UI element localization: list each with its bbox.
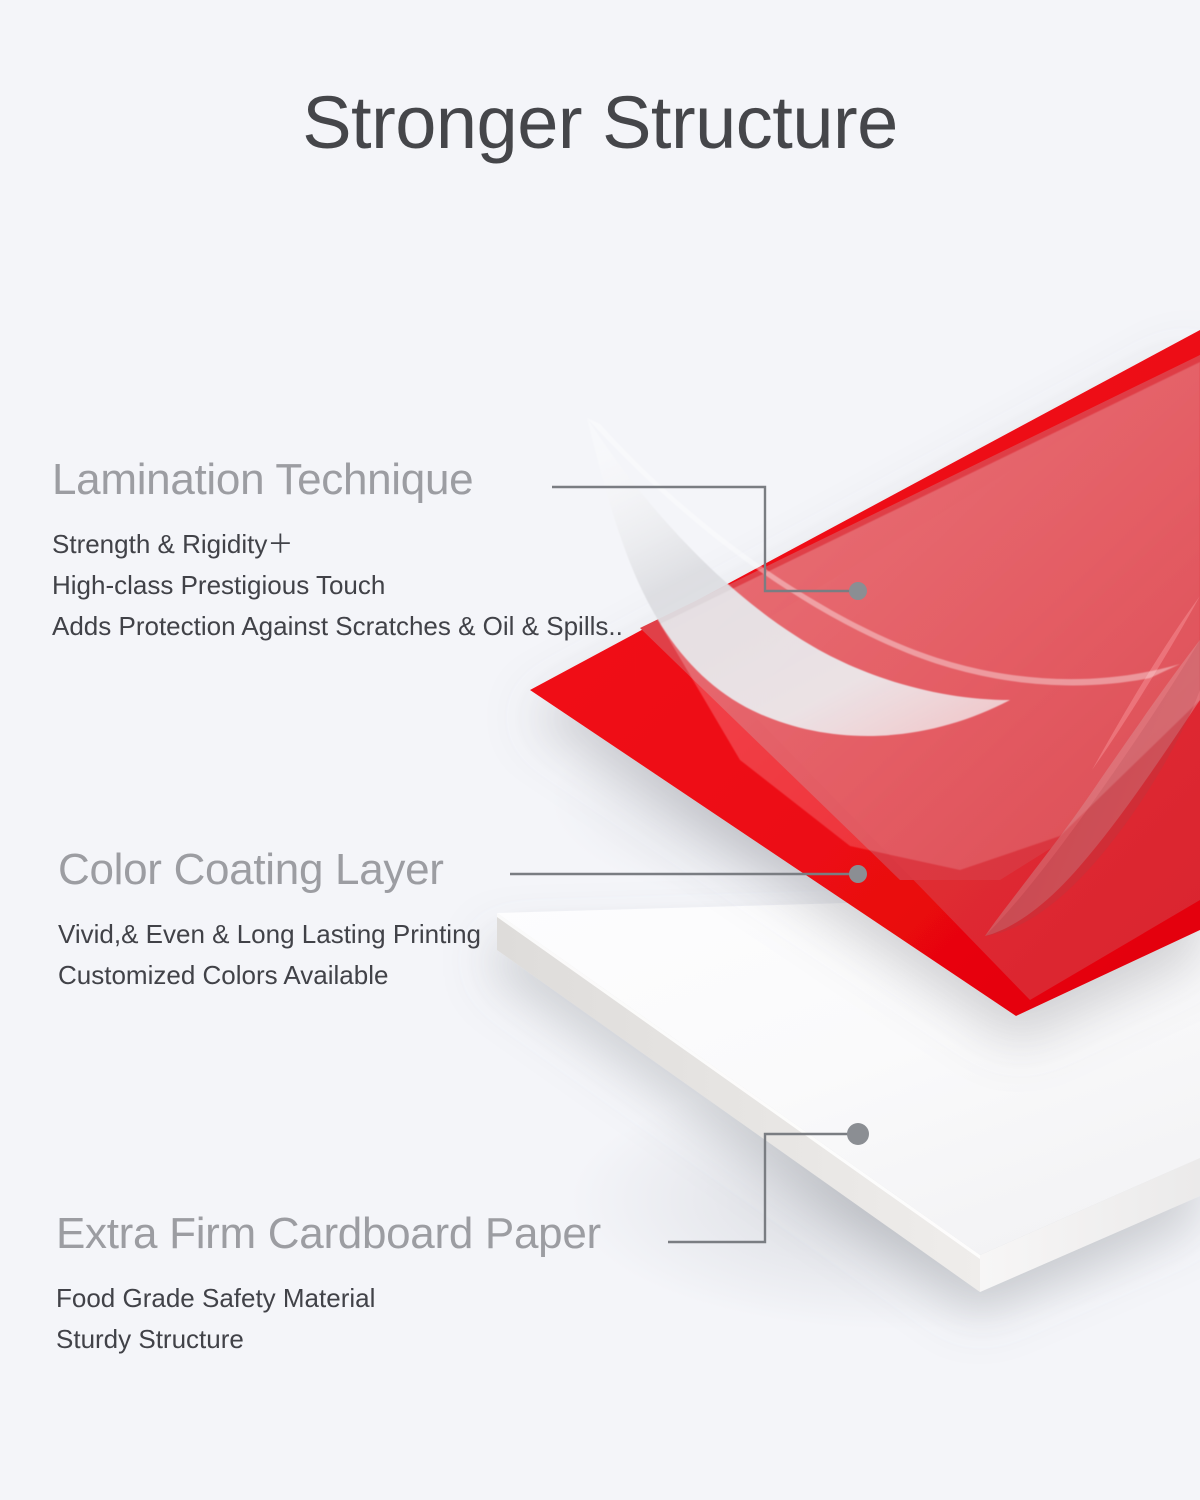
lamination-film-edge <box>587 418 1180 685</box>
callout-line: Food Grade Safety Material <box>56 1278 601 1319</box>
callout-lamination-lines: Strength & Rigidity＋ High-class Prestigi… <box>52 524 623 647</box>
leader-line-cardboard <box>668 1134 852 1242</box>
cardboard-slab <box>497 893 1200 1292</box>
page-title: Stronger Structure <box>0 86 1200 160</box>
callout-color-coating-heading: Color Coating Layer <box>58 848 481 892</box>
callout-line: Sturdy Structure <box>56 1319 601 1360</box>
callout-cardboard: Extra Firm Cardboard Paper Food Grade Sa… <box>56 1212 601 1360</box>
leader-dot-cardboard <box>847 1123 869 1145</box>
laminated-red-face <box>640 355 1200 880</box>
infographic-page: Stronger Structure Lamination Technique … <box>0 0 1200 1500</box>
callout-line: Strength & Rigidity＋ <box>52 524 623 565</box>
lamination-film <box>587 362 1200 870</box>
red-curl-inner-shade <box>985 640 1200 936</box>
callout-lamination: Lamination Technique Strength & Rigidity… <box>52 458 623 647</box>
callout-line: High-class Prestigious Touch <box>52 565 623 606</box>
laminated-red-sheet <box>640 355 1200 1000</box>
color-coating-sheet <box>530 330 1200 1016</box>
cardboard-edge-right <box>980 1158 1200 1292</box>
callout-cardboard-lines: Food Grade Safety Material Sturdy Struct… <box>56 1278 601 1360</box>
laminated-red-body <box>700 355 1200 1000</box>
callout-line: Customized Colors Available <box>58 955 481 996</box>
red-curl <box>985 640 1200 936</box>
leader-dot-coating <box>849 865 867 883</box>
red-curl-highlight <box>1092 596 1200 770</box>
callout-line: Vivid,& Even & Long Lasting Printing <box>58 914 481 955</box>
lamination-film-sheet <box>587 418 1010 736</box>
leader-dot-lamination <box>849 582 867 600</box>
lamination-film-over-red <box>660 362 1200 870</box>
ambient-shadow-red <box>550 680 1200 920</box>
callout-color-coating: Color Coating Layer Vivid,& Even & Long … <box>58 848 481 996</box>
callout-lamination-heading: Lamination Technique <box>52 458 623 502</box>
callout-color-coating-lines: Vivid,& Even & Long Lasting Printing Cus… <box>58 914 481 996</box>
cardboard-top-highlight <box>497 913 980 1259</box>
color-coating-base <box>530 330 1200 1016</box>
callout-line: Adds Protection Against Scratches & Oil … <box>52 606 623 647</box>
cardboard-top-face <box>497 893 1200 1255</box>
callout-cardboard-heading: Extra Firm Cardboard Paper <box>56 1212 601 1256</box>
ambient-shadow-board <box>570 1070 1200 1330</box>
